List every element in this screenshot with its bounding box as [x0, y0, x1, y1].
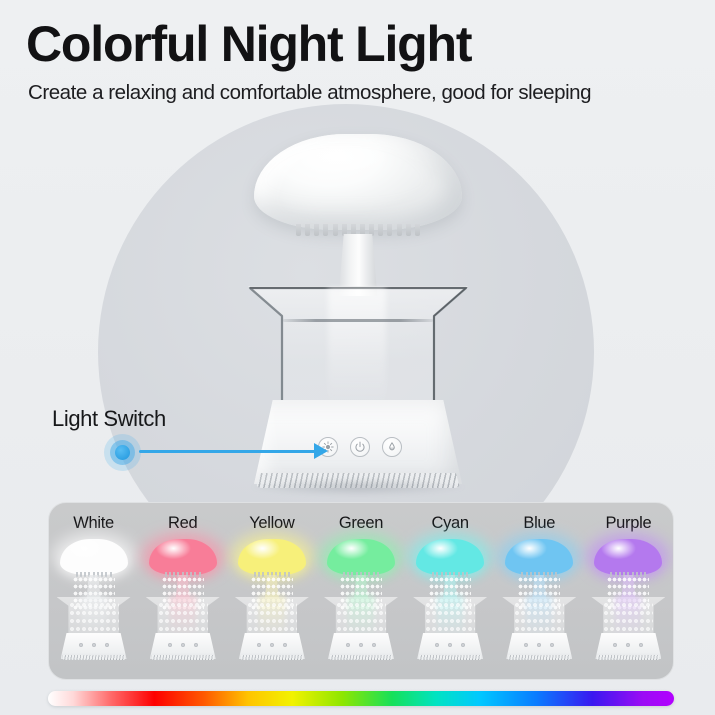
- mini-mushroom-cap: [60, 539, 128, 575]
- color-swatch-cyan[interactable]: Cyan: [406, 503, 495, 679]
- mini-control-dots: [168, 643, 198, 648]
- mini-product-image: [229, 535, 315, 663]
- mini-mushroom-cap: [238, 539, 306, 575]
- mini-base-vents: [240, 655, 304, 660]
- mini-base-vents: [329, 655, 393, 660]
- mini-mushroom-cap: [149, 539, 217, 575]
- mini-tank-droplets: [603, 601, 653, 635]
- mini-product-image: [140, 535, 226, 663]
- mini-tank-droplets: [514, 601, 564, 635]
- page-title: Colorful Night Light: [26, 18, 471, 71]
- callout-leader-line: [139, 450, 323, 453]
- mini-base-vents: [62, 655, 126, 660]
- mini-tank-droplets: [425, 601, 475, 635]
- color-swatch-blue[interactable]: Blue: [495, 503, 584, 679]
- color-swatch-label: Red: [168, 514, 197, 533]
- color-swatch-label: Cyan: [431, 514, 468, 533]
- product-shadow: [250, 480, 466, 496]
- color-swatch-white[interactable]: White: [49, 503, 138, 679]
- callout-arrow-icon: [314, 443, 328, 459]
- mini-product-image: [585, 535, 671, 663]
- color-swatch-label: Blue: [523, 514, 555, 533]
- mini-product-image: [496, 535, 582, 663]
- mini-control-dots: [346, 643, 376, 648]
- power-icon: [354, 441, 366, 453]
- light-switch-callout-label: Light Switch: [52, 406, 166, 432]
- color-swatch-label: Purple: [605, 514, 651, 533]
- mini-mushroom-cap: [416, 539, 484, 575]
- hero-product-image: [232, 128, 484, 500]
- water-level-line: [283, 319, 433, 322]
- mini-mushroom-cap: [327, 539, 395, 575]
- mini-control-dots: [79, 643, 109, 648]
- color-swatch-yellow[interactable]: Yellow: [227, 503, 316, 679]
- mini-base-vents: [418, 655, 482, 660]
- mini-base-vents: [151, 655, 215, 660]
- color-swatch-red[interactable]: Red: [138, 503, 227, 679]
- control-panel: [318, 436, 402, 458]
- mini-tank-droplets: [336, 601, 386, 635]
- color-swatch-label: Yellow: [249, 514, 294, 533]
- color-swatch-green[interactable]: Green: [316, 503, 405, 679]
- mini-tank-droplets: [247, 601, 297, 635]
- mini-product-image: [51, 535, 137, 663]
- color-swatch-panel: WhiteRedYellowGreenCyanBluePurple: [48, 502, 674, 680]
- color-swatch-label: White: [73, 514, 114, 533]
- mini-control-dots: [435, 643, 465, 648]
- cap-highlight: [306, 146, 392, 176]
- callout-marker-dot: [104, 434, 141, 471]
- mist-icon: [386, 441, 398, 453]
- mini-tank-droplets: [158, 601, 208, 635]
- power-button[interactable]: [350, 437, 370, 457]
- mushroom-cap: [254, 134, 462, 230]
- mist-button[interactable]: [382, 437, 402, 457]
- page-subtitle: Create a relaxing and comfortable atmosp…: [28, 81, 591, 106]
- color-swatch-purple[interactable]: Purple: [584, 503, 673, 679]
- mini-product-image: [318, 535, 404, 663]
- product-feature-page: Colorful Night Light Create a relaxing a…: [0, 0, 715, 715]
- color-gradient-bar: [48, 691, 674, 706]
- mini-base-vents: [507, 655, 571, 660]
- mini-product-image: [407, 535, 493, 663]
- mini-mushroom-cap: [594, 539, 662, 575]
- mini-control-dots: [524, 643, 554, 648]
- mini-mushroom-cap: [505, 539, 573, 575]
- mini-base-vents: [596, 655, 660, 660]
- mist-column: [328, 288, 386, 408]
- mini-control-dots: [613, 643, 643, 648]
- color-swatch-label: Green: [339, 514, 383, 533]
- mini-control-dots: [257, 643, 287, 648]
- mini-tank-droplets: [69, 601, 119, 635]
